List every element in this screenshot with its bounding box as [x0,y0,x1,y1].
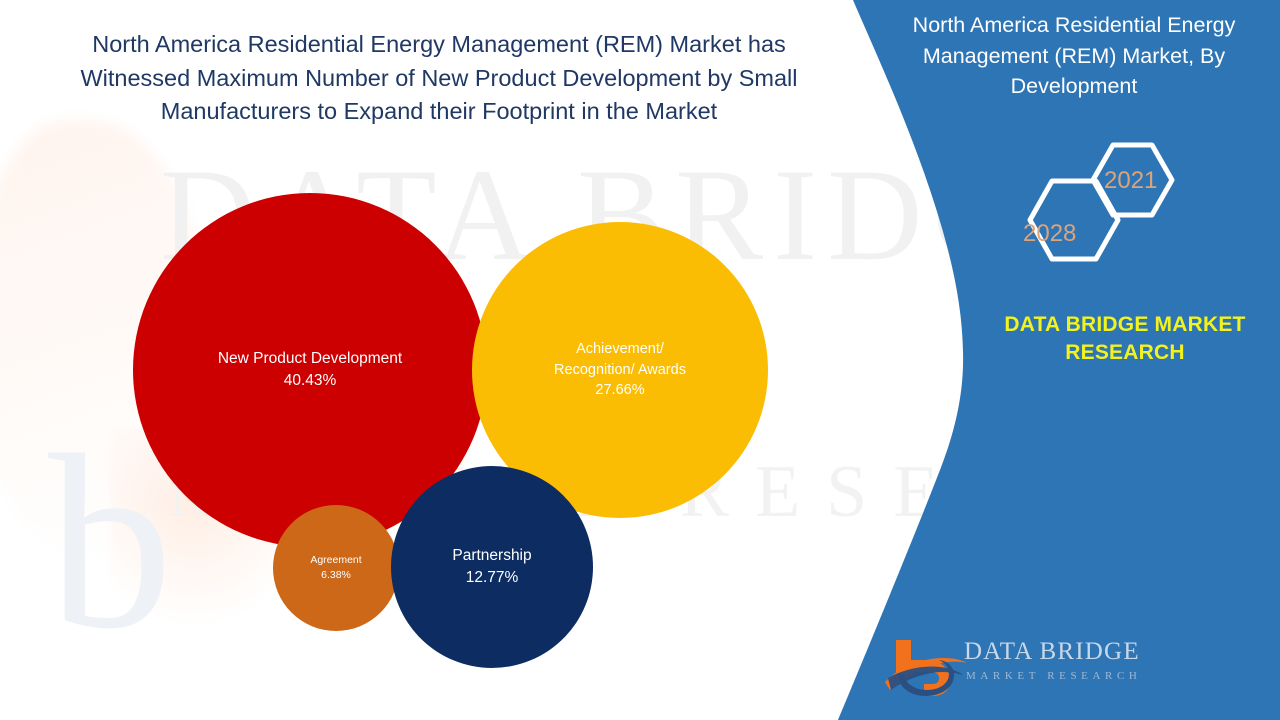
bubble-label: Agreement [310,554,361,566]
slide-canvas: b DATA BRIDGE MARKET RESEARCH North Amer… [0,0,1280,720]
panel-title: North America Residential Energy Managem… [908,10,1240,102]
bubble-label-line-1: Achievement/ [576,341,664,357]
logo-subtitle: MARKET RESEARCH [966,670,1141,682]
bubble-label-group: Achievement/ Recognition/ Awards 27.66% [548,339,692,401]
hexagon-label-2021: 2021 [1104,167,1157,195]
data-bridge-logo[interactable]: DATA BRIDGE MARKET RESEARCH [884,632,1114,704]
bubble-agreement[interactable]: Agreement 6.38% [273,505,399,631]
bubble-value: 6.38% [310,568,361,583]
bubble-label-group: Agreement 6.38% [304,553,367,583]
hexagon-badge-group: 2028 2021 [985,140,1185,290]
bubble-label-group: Partnership 12.77% [446,545,537,589]
bubble-value: 27.66% [554,380,686,401]
bubble-label: New Product Development [218,350,402,367]
bubble-label: Partnership [452,547,531,564]
bubble-label-line-2: Recognition/ Awards [554,362,686,378]
bubble-partnership[interactable]: Partnership 12.77% [391,466,593,668]
hexagon-badges-shape [985,140,1185,285]
brand-name: DATA BRIDGE MARKET RESEARCH [975,311,1275,368]
bubble-value: 40.43% [218,370,402,392]
logo-mark-icon [884,634,968,698]
hexagon-label-2028: 2028 [1023,220,1076,248]
bubble-label-group: New Product Development 40.43% [212,348,408,392]
logo-wordmark: DATA BRIDGE [964,638,1140,666]
bubble-value: 12.77% [452,567,531,589]
